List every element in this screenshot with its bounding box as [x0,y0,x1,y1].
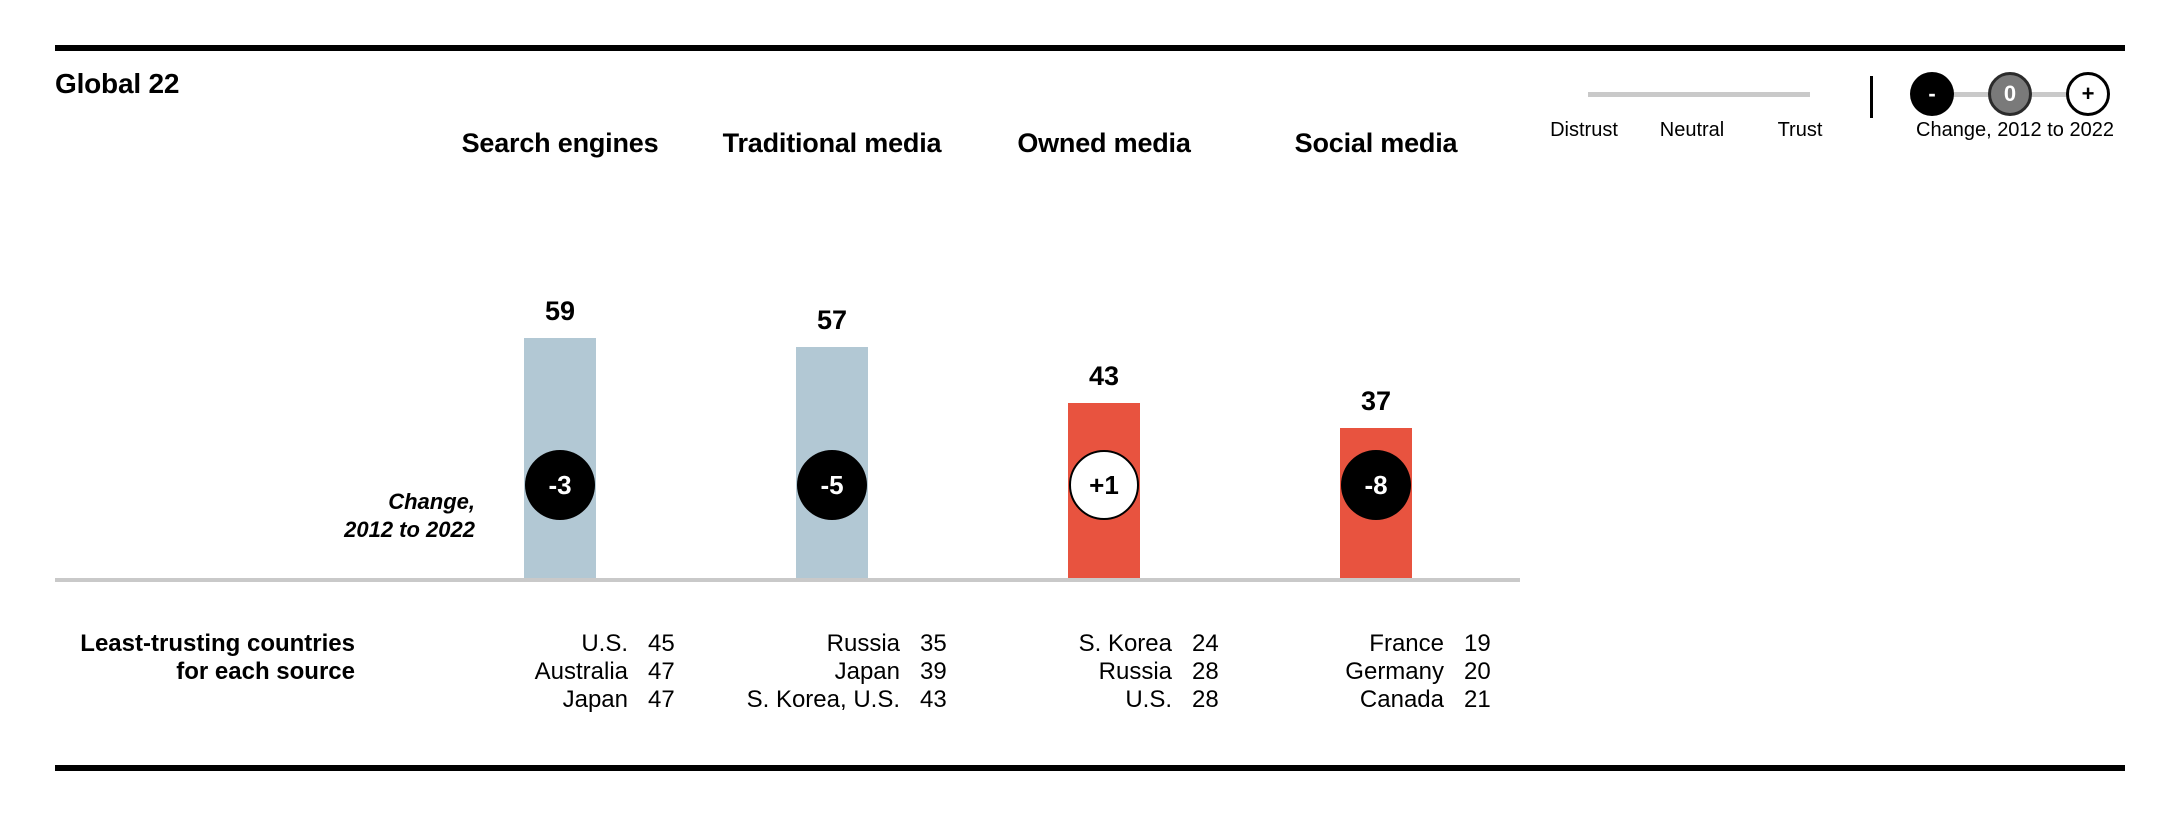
page-title: Global 22 [55,68,179,100]
bottom-rule [55,765,2125,771]
top-rule [55,45,2125,51]
least-trusting-column: France19Germany20Canada21 [1226,630,1526,714]
country-value: 21 [1464,686,1514,714]
bar-value-label: 59 [440,296,680,327]
country-name: France [1226,630,1444,658]
legend-swatch-trust [1796,78,1830,112]
bar-value-label: 57 [712,305,952,336]
change-bubble: -8 [1341,450,1411,520]
least-trusting-column: U.S.45Australia47Japan47 [410,630,710,714]
country-name: U.S. [954,686,1172,714]
least-trusting-column: S. Korea24Russia28U.S.28 [954,630,1254,714]
country-name: S. Korea, U.S. [682,686,900,714]
legend-label-neutral: Neutral [1632,118,1752,142]
table-row: U.S.45 [410,630,710,658]
least-trusting-caption: Least-trusting countriesfor each source [20,630,355,686]
legend-divider [1870,76,1873,118]
table-row: Canada21 [1226,686,1526,714]
country-name: S. Korea [954,630,1172,658]
legend-label-trust: Trust [1740,118,1860,142]
country-value: 19 [1464,630,1514,658]
table-row: S. Korea, U.S.43 [682,686,982,714]
country-name: Canada [1226,686,1444,714]
change-bubble: -5 [797,450,867,520]
country-name: Japan [682,658,900,686]
table-row: Australia47 [410,658,710,686]
country-name: Japan [410,686,628,714]
country-name: Russia [682,630,900,658]
table-row: Japan39 [682,658,982,686]
bar-value-label: 43 [984,361,1224,392]
table-row: Japan47 [410,686,710,714]
legend-label-distrust: Distrust [1524,118,1644,142]
change-caption: Change,2012 to 2022 [205,488,475,544]
table-row: Germany20 [1226,658,1526,686]
legend-swatch-neutral [1688,78,1722,112]
country-name: Australia [410,658,628,686]
legend: Distrust Neutral Trust - 0 + Change, 201… [1580,78,2120,158]
legend-chip-negative: - [1910,72,1954,116]
bar-value-label: 37 [1256,386,1496,417]
legend-scale-labels: Distrust Neutral Trust [1566,118,1856,142]
legend-chip-positive: + [2066,72,2110,116]
change-bubble: +1 [1069,450,1139,520]
table-row: U.S.28 [954,686,1254,714]
change-bubble: -3 [525,450,595,520]
country-value: 20 [1464,658,1514,686]
column-header: Social media [1216,128,1536,159]
legend-swatch-distrust [1580,78,1614,112]
least-trusting-column: Russia35Japan39S. Korea, U.S.43 [682,630,982,714]
change-scale-legend: - 0 + [1910,72,2120,118]
legend-chip-zero: 0 [1988,72,2032,116]
table-row: Russia28 [954,658,1254,686]
table-row: S. Korea24 [954,630,1254,658]
country-name: U.S. [410,630,628,658]
country-name: Russia [954,658,1172,686]
table-row: Russia35 [682,630,982,658]
axis-baseline [55,578,1520,582]
legend-change-label: Change, 2012 to 2022 [1880,118,2150,142]
table-row: France19 [1226,630,1526,658]
trust-scale-legend [1580,78,1830,112]
country-name: Germany [1226,658,1444,686]
